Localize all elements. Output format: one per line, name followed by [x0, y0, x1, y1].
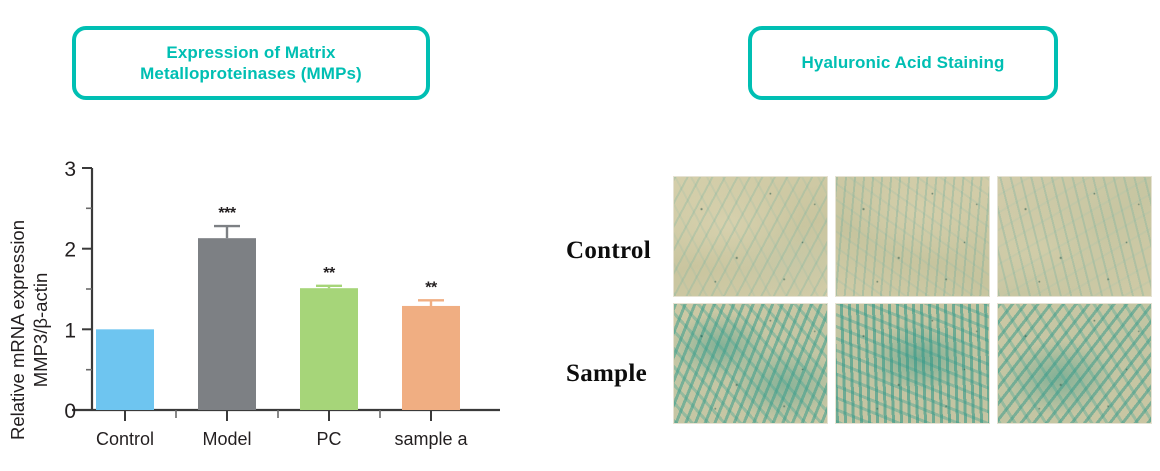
error-bar-model	[214, 226, 240, 238]
panel-title-mmp-line1: Expression of Matrix	[140, 42, 362, 63]
micrograph-grid	[673, 176, 1152, 424]
bars-group: *******	[96, 205, 460, 410]
x-tick-label-pc: PC	[316, 429, 341, 449]
y-tick-label-0: 0	[64, 400, 76, 423]
significance-label-sample-a: **	[425, 279, 438, 296]
bar-control	[96, 329, 154, 410]
micrograph-control-2	[835, 176, 990, 297]
x-tick-label-model: Model	[202, 429, 251, 449]
bar-sample-a	[402, 306, 460, 410]
bar-chart-svg: Relative mRNA expression MMP3/β-actin 3 …	[0, 130, 540, 471]
y-axis-title-line1: Relative mRNA expression	[7, 220, 28, 440]
bar-model	[198, 238, 256, 410]
micrograph-sample-3	[997, 303, 1152, 424]
x-tick-label-sample-a: sample a	[394, 429, 468, 449]
micrograph-control-3	[997, 176, 1152, 297]
significance-label-model: ***	[218, 205, 236, 222]
micrograph-sample-2	[835, 303, 990, 424]
micrograph-control-1	[673, 176, 828, 297]
panel-title-mmp: Expression of Matrix Metalloproteinases …	[72, 26, 430, 100]
significance-label-pc: **	[323, 265, 336, 282]
x-tick-label-control: Control	[96, 429, 154, 449]
panel-title-hyaluronic-text: Hyaluronic Acid Staining	[802, 52, 1005, 73]
y-tick-label-3: 3	[64, 158, 76, 181]
row-label-control: Control	[566, 237, 651, 265]
y-tick-label-1: 1	[64, 319, 76, 342]
panel-title-mmp-line2: Metalloproteinases (MMPs)	[140, 63, 362, 84]
micrograph-sample-1	[673, 303, 828, 424]
mmp-bar-chart: Relative mRNA expression MMP3/β-actin 3 …	[0, 130, 540, 471]
y-axis-title-line2: MMP3/β-actin	[30, 273, 51, 387]
panel-title-hyaluronic: Hyaluronic Acid Staining	[748, 26, 1058, 100]
error-bar-sample-a	[418, 300, 444, 306]
row-label-sample: Sample	[566, 360, 647, 388]
hyaluronic-staining-panel: Control Sample	[552, 160, 1160, 440]
bar-pc	[300, 288, 358, 410]
error-bar-pc	[316, 286, 342, 288]
y-tick-label-2: 2	[64, 239, 76, 262]
